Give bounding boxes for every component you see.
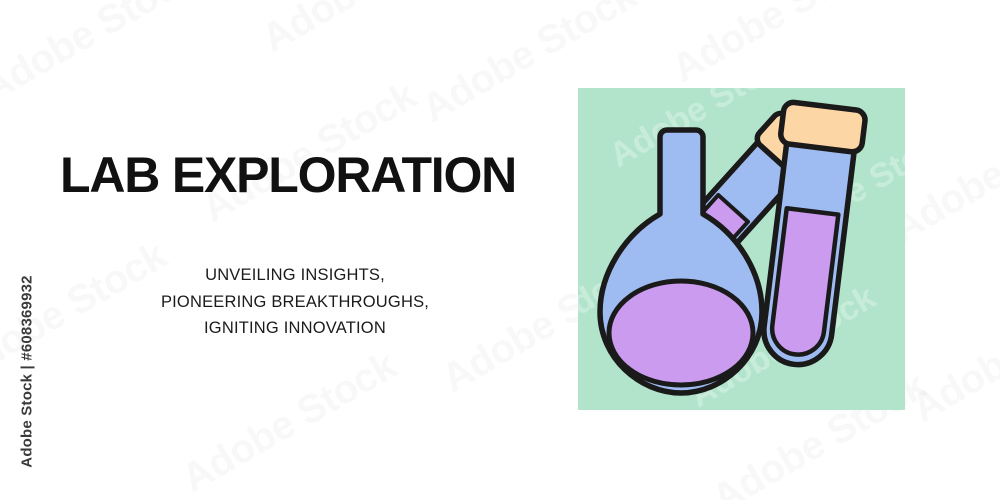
credit-label: Adobe Stock | #608369932 (19, 275, 36, 467)
watermark-text: Adobe Stock (175, 343, 404, 500)
subtitle-line-3: IGNITING INNOVATION (60, 315, 530, 342)
watermark-text: Adobe Stock (255, 0, 484, 62)
lab-illustration-svg: Adobe Stock Adobe Stock Adobe Stock Adob… (578, 88, 905, 410)
flask-liquid (609, 281, 753, 385)
page-title: LAB EXPLORATION (60, 150, 530, 200)
banner-canvas: Adobe Stock Adobe Stock Adobe Stock Adob… (0, 0, 1000, 500)
subtitle-line-1: UNVEILING INSIGHTS, (60, 262, 530, 289)
lab-illustration: Adobe Stock Adobe Stock Adobe Stock Adob… (578, 88, 905, 410)
watermark-text: Adobe Stock (905, 273, 1000, 431)
adobe-stock-credit: Adobe Stock | #608369932 (10, 0, 44, 500)
upright-tube-cap (780, 101, 867, 153)
text-block: LAB EXPLORATION UNVEILING INSIGHTS, PION… (60, 150, 530, 342)
watermark-text: Adobe Stock (665, 0, 894, 92)
subtitle: UNVEILING INSIGHTS, PIONEERING BREAKTHRO… (60, 262, 530, 342)
subtitle-line-2: PIONEERING BREAKTHROUGHS, (60, 289, 530, 316)
